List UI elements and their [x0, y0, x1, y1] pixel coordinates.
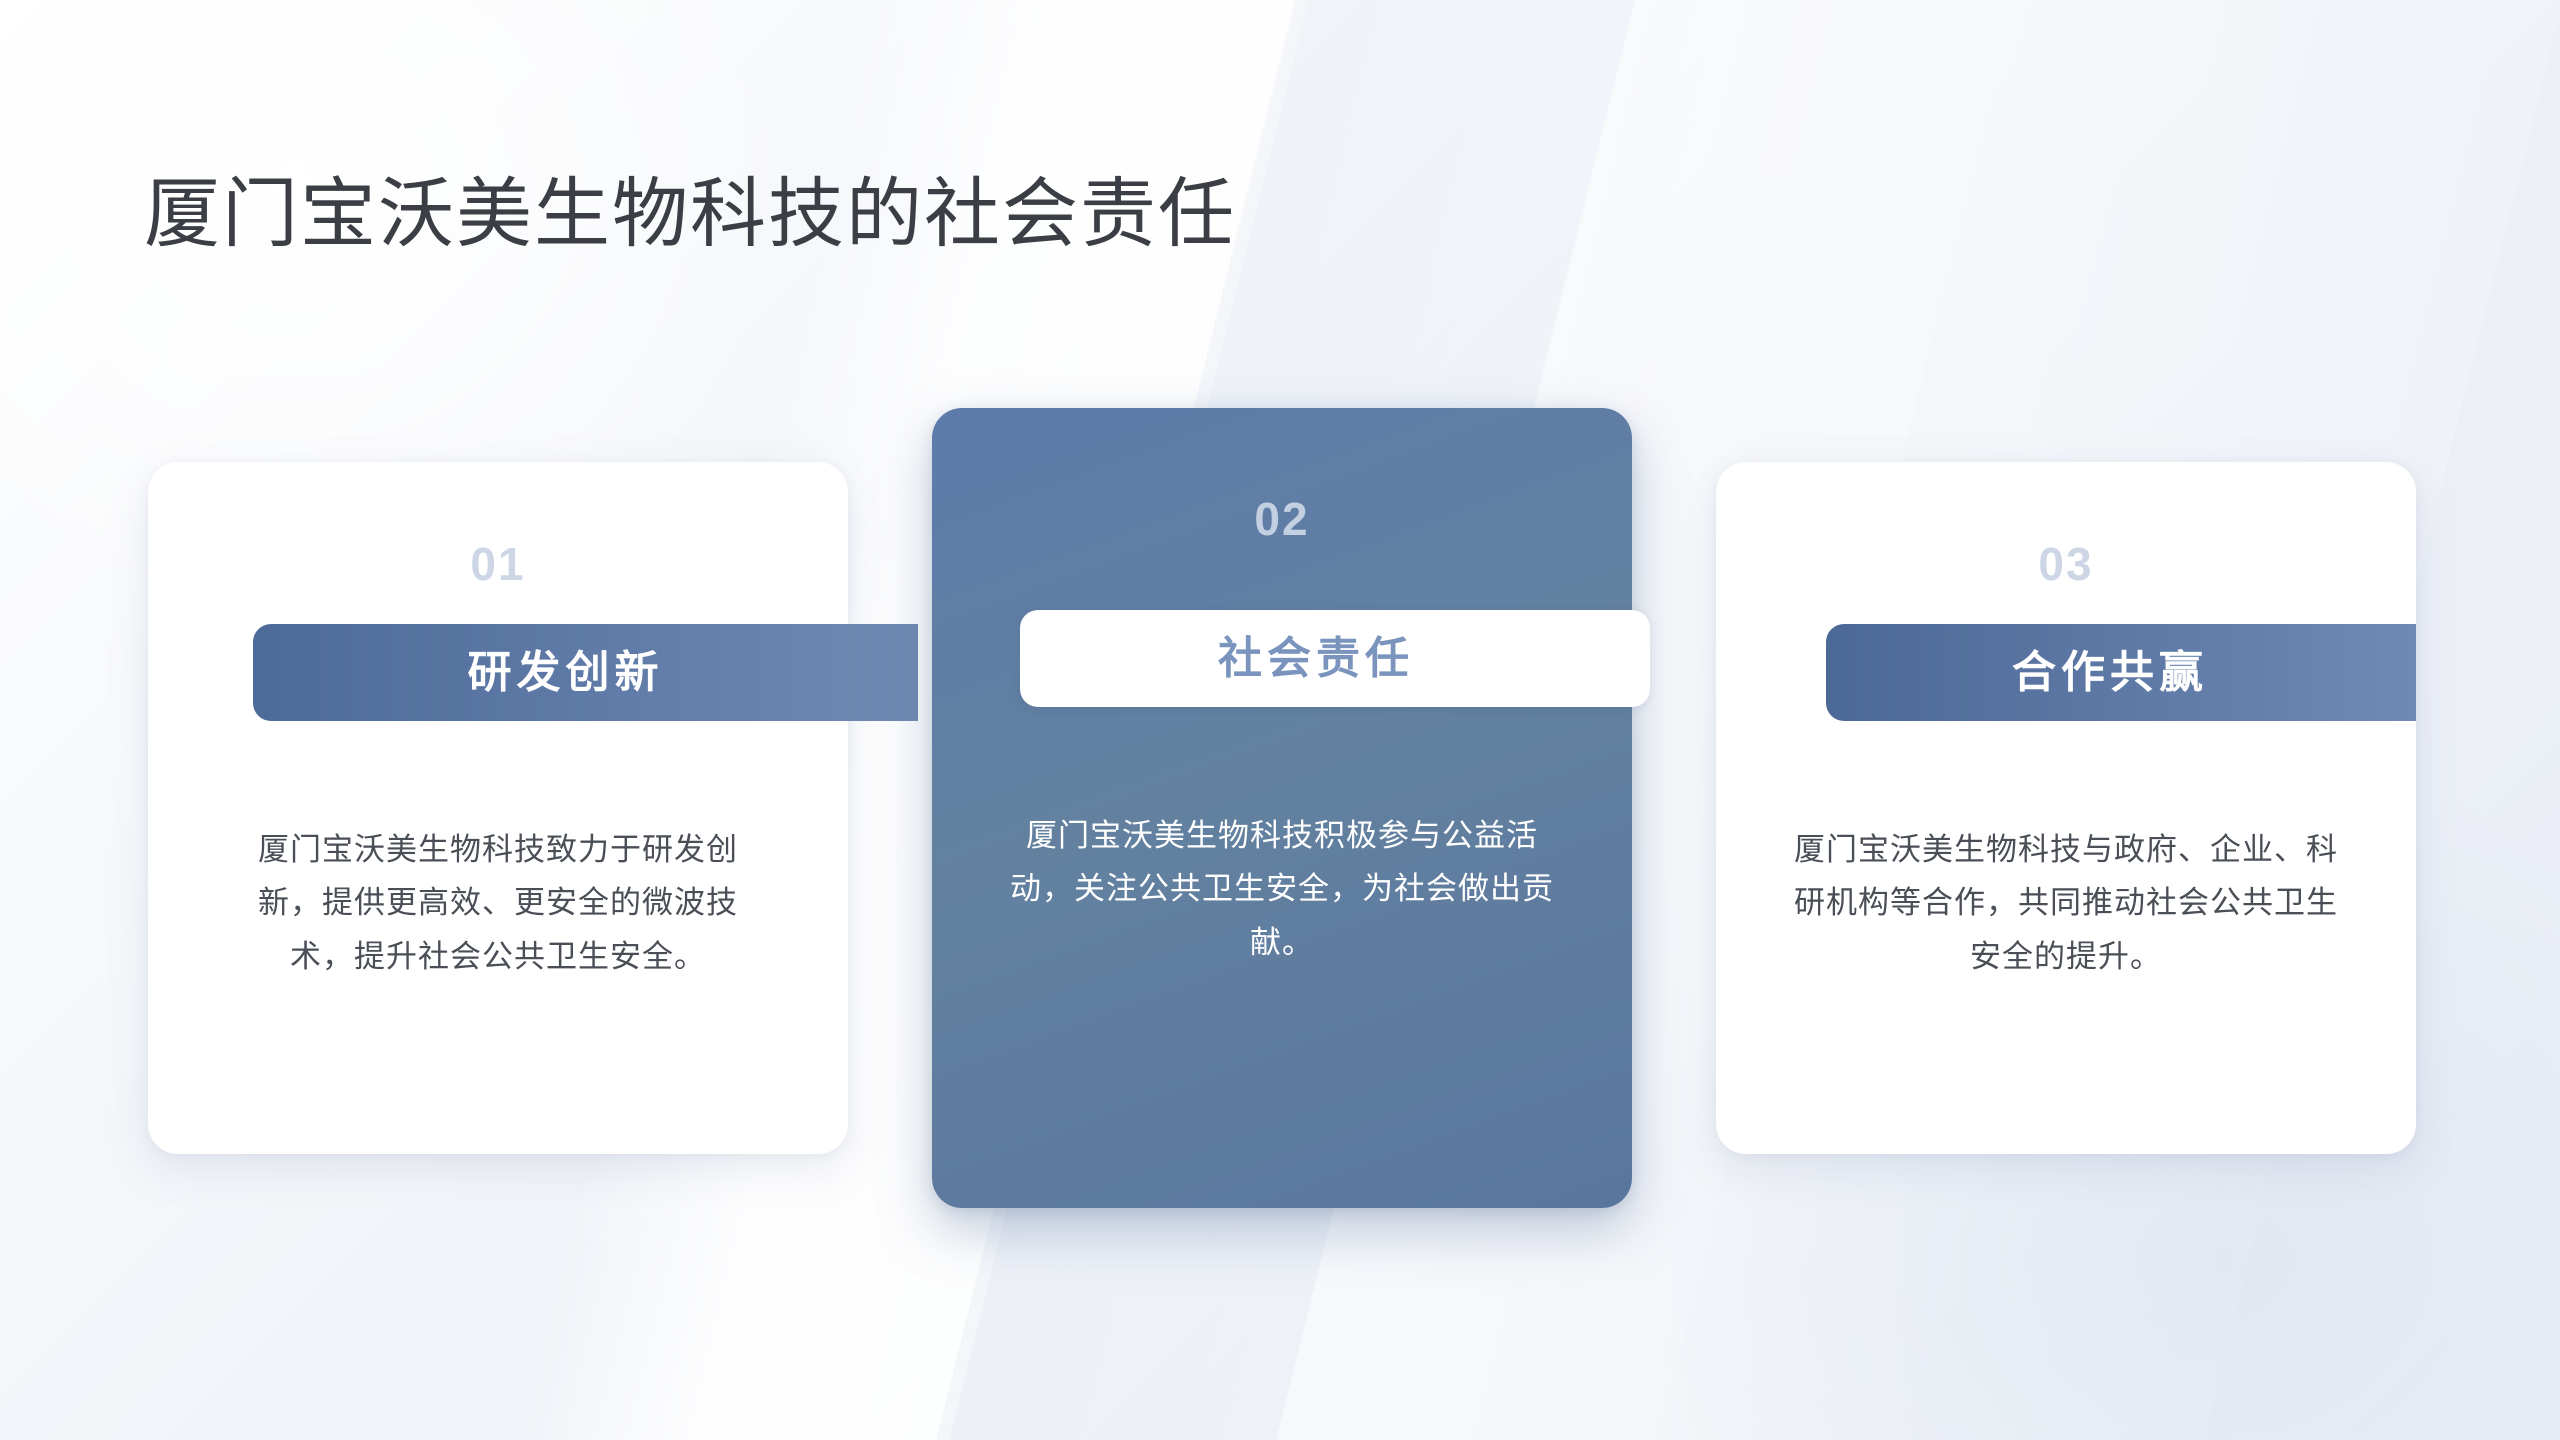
slide-canvas: 厦门宝沃美生物科技的社会责任 01 研发创新 厦门宝沃美生物科技致力于研发创新，… — [0, 0, 2560, 1440]
card-heading-label: 社会责任 — [1218, 637, 1452, 681]
card-body-text: 厦门宝沃美生物科技积极参与公益活动，关注公共卫生安全，为社会做出贡献。 — [996, 809, 1568, 969]
card-index-number: 01 — [148, 537, 848, 591]
card-heading-label: 合作共赢 — [2012, 651, 2230, 695]
card-heading-ribbon: 合作共赢 — [1826, 624, 2416, 721]
card-body-text: 厦门宝沃美生物科技与政府、企业、科研机构等合作，共同推动社会公共卫生安全的提升。 — [1780, 823, 2352, 983]
feature-card-3[interactable]: 03 合作共赢 厦门宝沃美生物科技与政府、企业、科研机构等合作，共同推动社会公共… — [1716, 462, 2416, 1154]
card-heading-ribbon: 社会责任 — [1020, 610, 1650, 707]
card-body-text: 厦门宝沃美生物科技致力于研发创新，提供更高效、更安全的微波技术，提升社会公共卫生… — [212, 823, 784, 983]
card-index-number: 02 — [932, 492, 1632, 546]
feature-card-1[interactable]: 01 研发创新 厦门宝沃美生物科技致力于研发创新，提供更高效、更安全的微波技术，… — [148, 462, 848, 1154]
card-heading-label: 研发创新 — [468, 651, 704, 695]
card-index-number: 03 — [1716, 537, 2416, 591]
card-row: 01 研发创新 厦门宝沃美生物科技致力于研发创新，提供更高效、更安全的微波技术，… — [0, 0, 2560, 1440]
card-heading-ribbon: 研发创新 — [253, 624, 918, 721]
feature-card-2[interactable]: 02 社会责任 厦门宝沃美生物科技积极参与公益活动，关注公共卫生安全，为社会做出… — [932, 408, 1632, 1208]
